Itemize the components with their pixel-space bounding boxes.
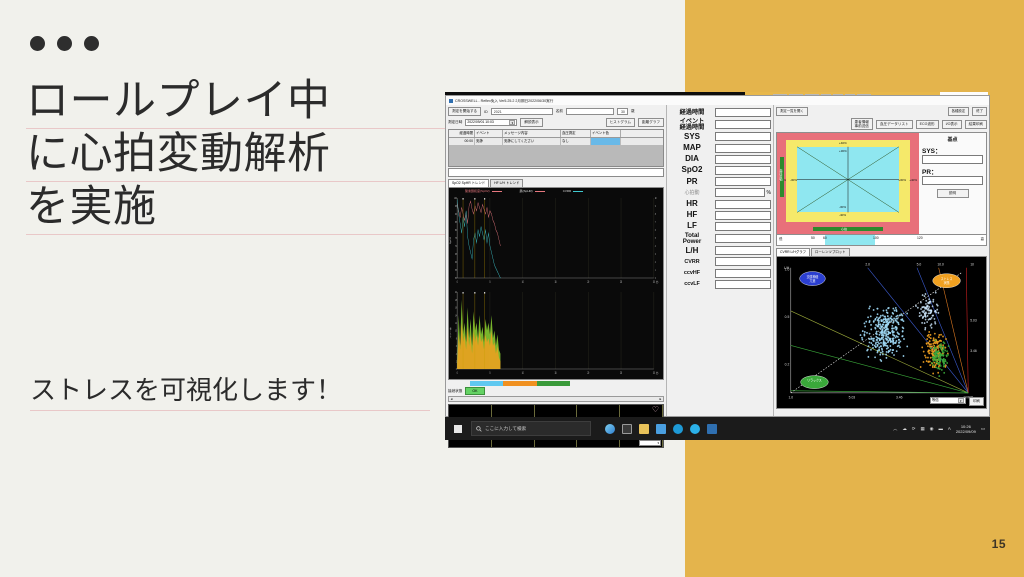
sync-icon[interactable]: ⟳ (912, 426, 916, 432)
metric-value-field[interactable] (715, 222, 771, 231)
svg-text:6: 6 (456, 346, 457, 349)
metric-lh-ratio: L/H (669, 246, 771, 255)
metric-value-field[interactable] (715, 200, 771, 209)
name-label: 名前 (556, 109, 563, 114)
legend-swatch-1 (535, 191, 545, 192)
svg-text:60: 60 (455, 262, 457, 265)
exit-button[interactable]: 終了 (972, 107, 987, 116)
bp-x-axis-label: 心拍 (841, 227, 847, 231)
svg-text:10: 10 (522, 371, 524, 375)
svg-text:14: 14 (455, 315, 457, 318)
age-input[interactable]: 30 (617, 108, 628, 115)
bp-zone-grid: +40% +30% -30% -40% -40% -30% +30% +40% … (777, 133, 919, 234)
scatter-controls: 等倍 ▾ 印刷 (930, 397, 984, 406)
metric-label: L/H (669, 247, 715, 255)
metric-label: イベント経過時間 (669, 119, 715, 130)
start-measurement-button[interactable]: 測定を開始する (448, 107, 481, 116)
clock-date: 2022/09/09 (956, 429, 976, 434)
event-table-header: 経過時間 イベント メッセージ内容 血圧測定 イベント色 (449, 130, 663, 138)
metric-label: ccvLF (669, 280, 715, 288)
clock[interactable]: 10:26 2022/09/09 (956, 424, 976, 434)
bp-help-button[interactable]: 説明 (937, 189, 969, 198)
metric-value-field[interactable] (715, 257, 771, 266)
metric-label: SYS (669, 133, 715, 141)
svg-text:2.0: 2.0 (865, 262, 870, 266)
metric-value-field[interactable] (715, 120, 771, 129)
svg-text:7: 7 (655, 222, 656, 225)
bp-readouts: 基点 SYS： PR： 説明 (919, 133, 986, 234)
svg-text:パワー値: パワー値 (449, 326, 452, 338)
metric-ccvlf: ccvLF (669, 280, 771, 289)
legend-item-2: CVRR (563, 189, 584, 193)
cortana-icon[interactable] (605, 424, 615, 434)
svg-text:SpO2: SpO2 (450, 236, 451, 244)
event-notes-field[interactable] (448, 168, 664, 177)
cell-bp: なし (561, 138, 591, 145)
cloud-icon[interactable]: ☁ (902, 426, 906, 432)
metric-label: LF (669, 222, 715, 230)
tab-hf-lh-trend[interactable]: HF L/H トレンド (490, 179, 523, 187)
windows-taskbar: ここに入力して検索 ︿ ☁ ⟳ ▦ ◉ ▬ A 10:26 2022/09/09… (445, 417, 990, 440)
headline-line-1: ロールプレイ中 (26, 76, 446, 129)
svg-text:20: 20 (587, 371, 589, 375)
toolbar-row-2: 測定日時 2022/09/01 10:03 ▾ 解説表示 ヒストグラム 距離グラ… (448, 118, 664, 127)
mail-icon[interactable] (656, 424, 666, 434)
metric-label: DIA (669, 155, 715, 163)
svg-text:85: 85 (455, 222, 457, 225)
network-icon[interactable]: ▦ (920, 426, 924, 432)
svg-text:100: 100 (454, 198, 457, 201)
file-explorer-icon[interactable] (639, 424, 649, 434)
open-measurement-list-button[interactable]: 測定一覧を開く (776, 107, 808, 116)
metric-sys: SYS (669, 132, 771, 141)
action-center-icon[interactable]: ▭ (981, 426, 985, 432)
metric-heartbeat: 心拍動 % (669, 188, 771, 197)
svg-text:10.0: 10.0 (937, 262, 944, 266)
svg-text:75: 75 (455, 238, 457, 241)
metric-label: HF (669, 211, 715, 219)
cell-message: 安静にしてください (503, 138, 561, 145)
legend-item-1: 脈(SpHR) (520, 189, 545, 193)
metric-dia: DIA (669, 155, 771, 164)
bp-pr-field[interactable] (922, 176, 983, 185)
svg-text:25: 25 (620, 371, 622, 375)
io-display-button[interactable]: I/O表示 (942, 120, 962, 129)
slide-canvas: 15 ロールプレイ中 に心拍変動解析 を実施 ストレスを可視化します！ ボタン設… (0, 0, 1024, 577)
svg-text:1.0: 1.0 (788, 395, 793, 399)
col-message: メッセージ内容 (503, 130, 561, 137)
table-row[interactable]: 00:00 安静 安静にしてください なし (449, 138, 663, 145)
svg-text:L/H: L/H (784, 266, 790, 270)
metric-value-field[interactable] (715, 234, 771, 243)
legend-swatch-0 (492, 191, 502, 192)
scatter-zoom-combo[interactable]: 等倍 ▾ (930, 397, 966, 404)
horizontal-scrollbar[interactable]: ◄ ► (448, 396, 664, 402)
edge-icon[interactable] (673, 424, 683, 434)
battery-icon[interactable]: ▬ (938, 426, 942, 431)
metric-label: CVRR (669, 258, 715, 266)
legend-label-1: 脈(SpHR) (520, 189, 533, 193)
svg-text:亢進: 亢進 (810, 278, 816, 283)
metric-label: TotalPower (669, 233, 715, 244)
print-result-button[interactable]: 結果印刷 (965, 120, 987, 129)
bp-label-right-2: +40% (909, 178, 917, 182)
svg-text:2: 2 (655, 262, 656, 265)
slide-number: 15 (992, 537, 1006, 551)
svg-text:3.46: 3.46 (970, 349, 977, 353)
status-badge: OK (465, 387, 484, 395)
cell-color-swatch (591, 138, 621, 145)
event-table[interactable]: 経過時間 イベント メッセージ内容 血圧測定 イベント色 00:00 安静 安静… (448, 129, 664, 167)
scatter-tabs: CVRR L/Hグラフ ローレンツプロット (776, 248, 987, 256)
svg-text:1: 1 (655, 270, 656, 273)
chart-spo2: 0510152025305055606570758085909510001234… (449, 194, 663, 287)
connection-status-row: 接続状態 OK (448, 387, 664, 395)
svg-text:30: 30 (653, 371, 655, 375)
application-window: CROSSWELL - Reflex免入 Ver5.25.2 2月期日2022/… (445, 95, 990, 417)
svg-text:10: 10 (455, 330, 457, 333)
metric-value-field[interactable] (715, 269, 771, 278)
col-bp: 血圧測定 (561, 130, 591, 137)
metric-ccvhf: ccvHF (669, 269, 771, 278)
app-titlebar: CROSSWELL - Reflex免入 Ver5.25.2 2月期日2022/… (446, 96, 989, 105)
decorative-dots (30, 36, 99, 51)
metric-hf: HF (669, 211, 771, 220)
svg-text:5: 5 (489, 280, 490, 284)
toolbar-row-1: 測定を開始する ID 2021 名前 30 歳 (448, 107, 664, 116)
metric-label: MAP (669, 144, 715, 152)
svg-text:8: 8 (456, 338, 457, 341)
trend-charts[interactable]: 酸素飽和度(SpO2) 脈(SpHR) CVRR 051 (448, 187, 664, 380)
tab-lorenz-plot[interactable]: ローレンツプロット (811, 248, 850, 256)
col-color: イベント色 (591, 130, 621, 137)
scale-segment-orange (503, 381, 536, 386)
bp-tick-100: 100 (873, 236, 879, 240)
bp-label-bot-2: -40% (839, 213, 846, 217)
date-label: 測定日時 (448, 120, 462, 125)
scale-segment-green (537, 381, 570, 386)
svg-text:10: 10 (522, 280, 524, 284)
bp-pr-label: PR： (922, 166, 983, 176)
send-patient-info-button[interactable]: 患者情報事前送信 (851, 118, 873, 130)
svg-text:25: 25 (620, 280, 622, 284)
svg-text:0.2: 0.2 (785, 362, 790, 366)
legend-item-0: 酸素飽和度(SpO2) (465, 189, 502, 193)
color-scale-bar (470, 381, 570, 386)
svg-text:90: 90 (455, 214, 457, 217)
bp-label-left-2: -30% (790, 178, 797, 182)
metric-hr: HR (669, 200, 771, 209)
metric-event-elapsed-time: イベント経過時間 (669, 119, 771, 130)
svg-text:(分): (分) (656, 370, 659, 375)
show-hidden-icons-icon[interactable]: ︿ (893, 426, 897, 432)
right-button-row-1: 測定一覧を開く 各種設定 終了 (776, 107, 987, 116)
bp-readouts-title: 基点 (922, 136, 983, 143)
svg-text:3.46: 3.46 (896, 395, 903, 399)
app-title-text: CROSSWELL - Reflex免入 Ver5.25.2 2月期日2022/… (455, 99, 553, 103)
bp-axis: 低 50 60 100 120 高 (776, 235, 987, 246)
metric-label: ccvHF (669, 269, 715, 277)
headline-line-3: を実施 (26, 182, 446, 235)
cell-elapsed: 00:00 (449, 138, 475, 145)
svg-text:(分): (分) (656, 279, 659, 284)
app-icon (449, 99, 453, 103)
svg-text:65: 65 (455, 254, 457, 257)
trend-legend: 酸素飽和度(SpO2) 脈(SpHR) CVRR (465, 189, 583, 193)
metric-label: PR (669, 178, 715, 186)
windows-logo-icon (454, 425, 462, 433)
age-unit-label: 歳 (631, 109, 635, 114)
metric-value-field[interactable] (715, 211, 771, 220)
system-tray: ︿ ☁ ⟳ ▦ ◉ ▬ A 10:26 2022/09/09 ▭ (893, 424, 990, 434)
svg-text:95: 95 (455, 206, 457, 209)
svg-text:10: 10 (655, 198, 657, 201)
metric-cvrr: CVRR (669, 257, 771, 266)
cvrr-lh-scatter-plot[interactable]: 1.00.50.21.05.033.46CVRR2.05.010.0105.03… (776, 256, 987, 409)
bp-axis-highlight (825, 235, 875, 245)
bp-tick-60: 60 (823, 236, 827, 240)
date-combo[interactable]: 2022/09/01 10:03 ▾ (465, 119, 517, 126)
chrome-icon[interactable] (690, 424, 700, 434)
bp-label-top-2: +30% (839, 149, 847, 153)
metric-value-field[interactable] (715, 108, 771, 117)
metric-value-field[interactable] (715, 155, 771, 164)
metric-label: 心拍動 (669, 189, 715, 197)
scatter-zoom-value: 等倍 (932, 397, 939, 404)
task-view-icon[interactable] (622, 424, 632, 434)
headline-line-2: に心拍変動解析 (26, 129, 446, 182)
subtitle: ストレスを可視化します！ (30, 372, 430, 411)
dot-1 (30, 36, 45, 51)
svg-text:0: 0 (457, 371, 458, 375)
svg-text:15: 15 (555, 371, 557, 375)
right-button-row-2: 患者情報事前送信 血圧データリスト ECG波形 I/O表示 結果印刷 (776, 118, 987, 130)
chart-hf-lf: 05101520253002468101214161820(分)パワー値 (449, 288, 663, 378)
settings-button[interactable]: 各種設定 (948, 107, 970, 116)
search-icon (476, 426, 482, 432)
svg-text:6: 6 (655, 230, 656, 233)
metric-spo2: SpO2 (669, 166, 771, 175)
dot-2 (57, 36, 72, 51)
ecg-waveform-button[interactable]: ECG波形 (916, 120, 939, 129)
heart-icon: ♡ (652, 406, 659, 414)
chevron-down-icon[interactable]: ▾ (657, 441, 659, 445)
waveform-scale-combo[interactable]: ▾ (639, 440, 661, 446)
svg-text:10: 10 (970, 262, 974, 266)
col-elapsed: 経過時間 (449, 130, 475, 137)
tab-cvrr-lh-graph[interactable]: CVRR L/Hグラフ (776, 248, 810, 256)
metric-value-field[interactable] (715, 280, 771, 289)
bp-label-right-1: +30% (898, 178, 906, 182)
svg-text:5.03: 5.03 (849, 395, 856, 399)
metric-elapsed-time: 経過時間 (669, 108, 771, 117)
svg-text:12: 12 (455, 323, 457, 326)
percent-unit-label: % (767, 190, 771, 196)
svg-text:状態: 状態 (944, 280, 950, 285)
svg-text:80: 80 (455, 230, 457, 233)
metric-value-field[interactable] (715, 246, 771, 255)
app-icon[interactable] (707, 424, 717, 434)
legend-label-0: 酸素飽和度(SpO2) (465, 189, 490, 193)
bp-data-list-button[interactable]: 血圧データリスト (876, 120, 913, 129)
svg-text:55: 55 (455, 270, 457, 273)
svg-text:0.5: 0.5 (785, 315, 790, 319)
svg-text:70: 70 (455, 246, 457, 249)
svg-text:リラックス: リラックス (807, 377, 822, 382)
bp-tick-120: 120 (917, 236, 923, 240)
name-input[interactable] (566, 108, 614, 115)
volume-icon[interactable]: ◉ (930, 426, 934, 432)
bp-tick-low: 低 (779, 236, 782, 241)
metric-label: SpO2 (669, 166, 715, 174)
left-column: 測定を開始する ID 2021 名前 30 歳 測定日時 2022/09/01 … (446, 105, 666, 416)
connection-status-label: 接続状態 (448, 389, 462, 394)
svg-text:0: 0 (457, 280, 458, 284)
bp-y-axis-label: 血圧変動 (779, 169, 783, 181)
bp-sys-field[interactable] (922, 155, 983, 164)
metric-value-field[interactable] (715, 132, 771, 141)
svg-text:20: 20 (455, 292, 457, 295)
svg-text:8: 8 (655, 214, 656, 217)
metric-lf: LF (669, 222, 771, 231)
metric-value-field[interactable] (715, 188, 765, 197)
cell-event: 安静 (475, 138, 503, 145)
bp-zone-chart[interactable]: +40% +30% -30% -40% -40% -30% +30% +40% … (776, 132, 987, 235)
bp-label-bot-1: -30% (839, 205, 846, 209)
chevron-down-icon[interactable]: ▾ (509, 120, 515, 125)
svg-text:5: 5 (655, 238, 656, 241)
histogram-button[interactable]: ヒストグラム (606, 118, 635, 127)
svg-text:15: 15 (555, 280, 557, 284)
ime-a-icon[interactable]: A (948, 426, 951, 431)
detail-display-button[interactable]: 解説表示 (520, 118, 542, 127)
metric-pr: PR (669, 177, 771, 186)
bp-sys-label: SYS： (922, 145, 983, 155)
svg-text:5.0: 5.0 (917, 262, 922, 266)
page-title: ロールプレイ中 に心拍変動解析 を実施 (26, 76, 446, 235)
metric-value-field[interactable] (715, 177, 771, 186)
scale-segment-blue (470, 381, 503, 386)
svg-text:3: 3 (655, 254, 656, 257)
svg-text:30: 30 (653, 280, 655, 284)
legend-swatch-2 (573, 191, 583, 192)
metric-value-field[interactable] (715, 166, 771, 175)
legend-label-2: CVRR (563, 189, 572, 193)
right-column: 測定一覧を開く 各種設定 終了 患者情報事前送信 血圧データリスト ECG波形 … (773, 105, 989, 416)
svg-text:18: 18 (455, 300, 457, 303)
id-input[interactable]: 2021 (491, 108, 553, 115)
svg-text:0: 0 (655, 278, 656, 281)
svg-text:2: 2 (456, 361, 457, 364)
scroll-right-icon[interactable]: ► (658, 397, 663, 401)
search-placeholder: ここに入力して検索 (485, 426, 526, 432)
metric-value-field[interactable] (715, 144, 771, 153)
metric-label: 経過時間 (669, 109, 715, 117)
svg-text:5.03: 5.03 (970, 319, 977, 323)
svg-text:4: 4 (456, 354, 457, 357)
svg-text:9: 9 (655, 206, 656, 209)
taskbar-icons (605, 424, 717, 434)
tab-spo2-trend[interactable]: SpO2 SpHR トレンド (448, 179, 489, 187)
search-input[interactable]: ここに入力して検索 (471, 421, 591, 436)
metric-label: HR (669, 200, 715, 208)
bp-x-arrow-icon (813, 227, 883, 231)
metric-total-power: TotalPower (669, 233, 771, 244)
svg-text:5: 5 (489, 371, 490, 375)
distance-graph-button[interactable]: 距離グラフ (638, 118, 664, 127)
metric-map: MAP (669, 144, 771, 153)
bp-tick-50: 50 (811, 236, 815, 240)
bp-label-top-1: +40% (839, 141, 847, 145)
chevron-down-icon[interactable]: ▾ (958, 398, 964, 403)
col-event: イベント (475, 130, 503, 137)
metrics-panel: 経過時間 イベント経過時間 SYS MAP DIA (666, 105, 773, 416)
bp-zone-lines (777, 133, 919, 234)
scroll-left-icon[interactable]: ◄ (449, 397, 454, 401)
start-button[interactable] (445, 420, 471, 438)
bp-tick-high: 高 (981, 236, 984, 241)
trend-chart-tabs: SpO2 SpHR トレンド HF L/H トレンド (448, 179, 664, 187)
svg-text:4: 4 (655, 246, 656, 249)
dot-3 (84, 36, 99, 51)
id-label: ID (484, 110, 488, 114)
date-value: 2022/09/01 10:03 (467, 119, 493, 126)
scatter-print-button[interactable]: 印刷 (969, 397, 984, 406)
svg-text:20: 20 (587, 280, 589, 284)
svg-text:16: 16 (455, 307, 457, 310)
